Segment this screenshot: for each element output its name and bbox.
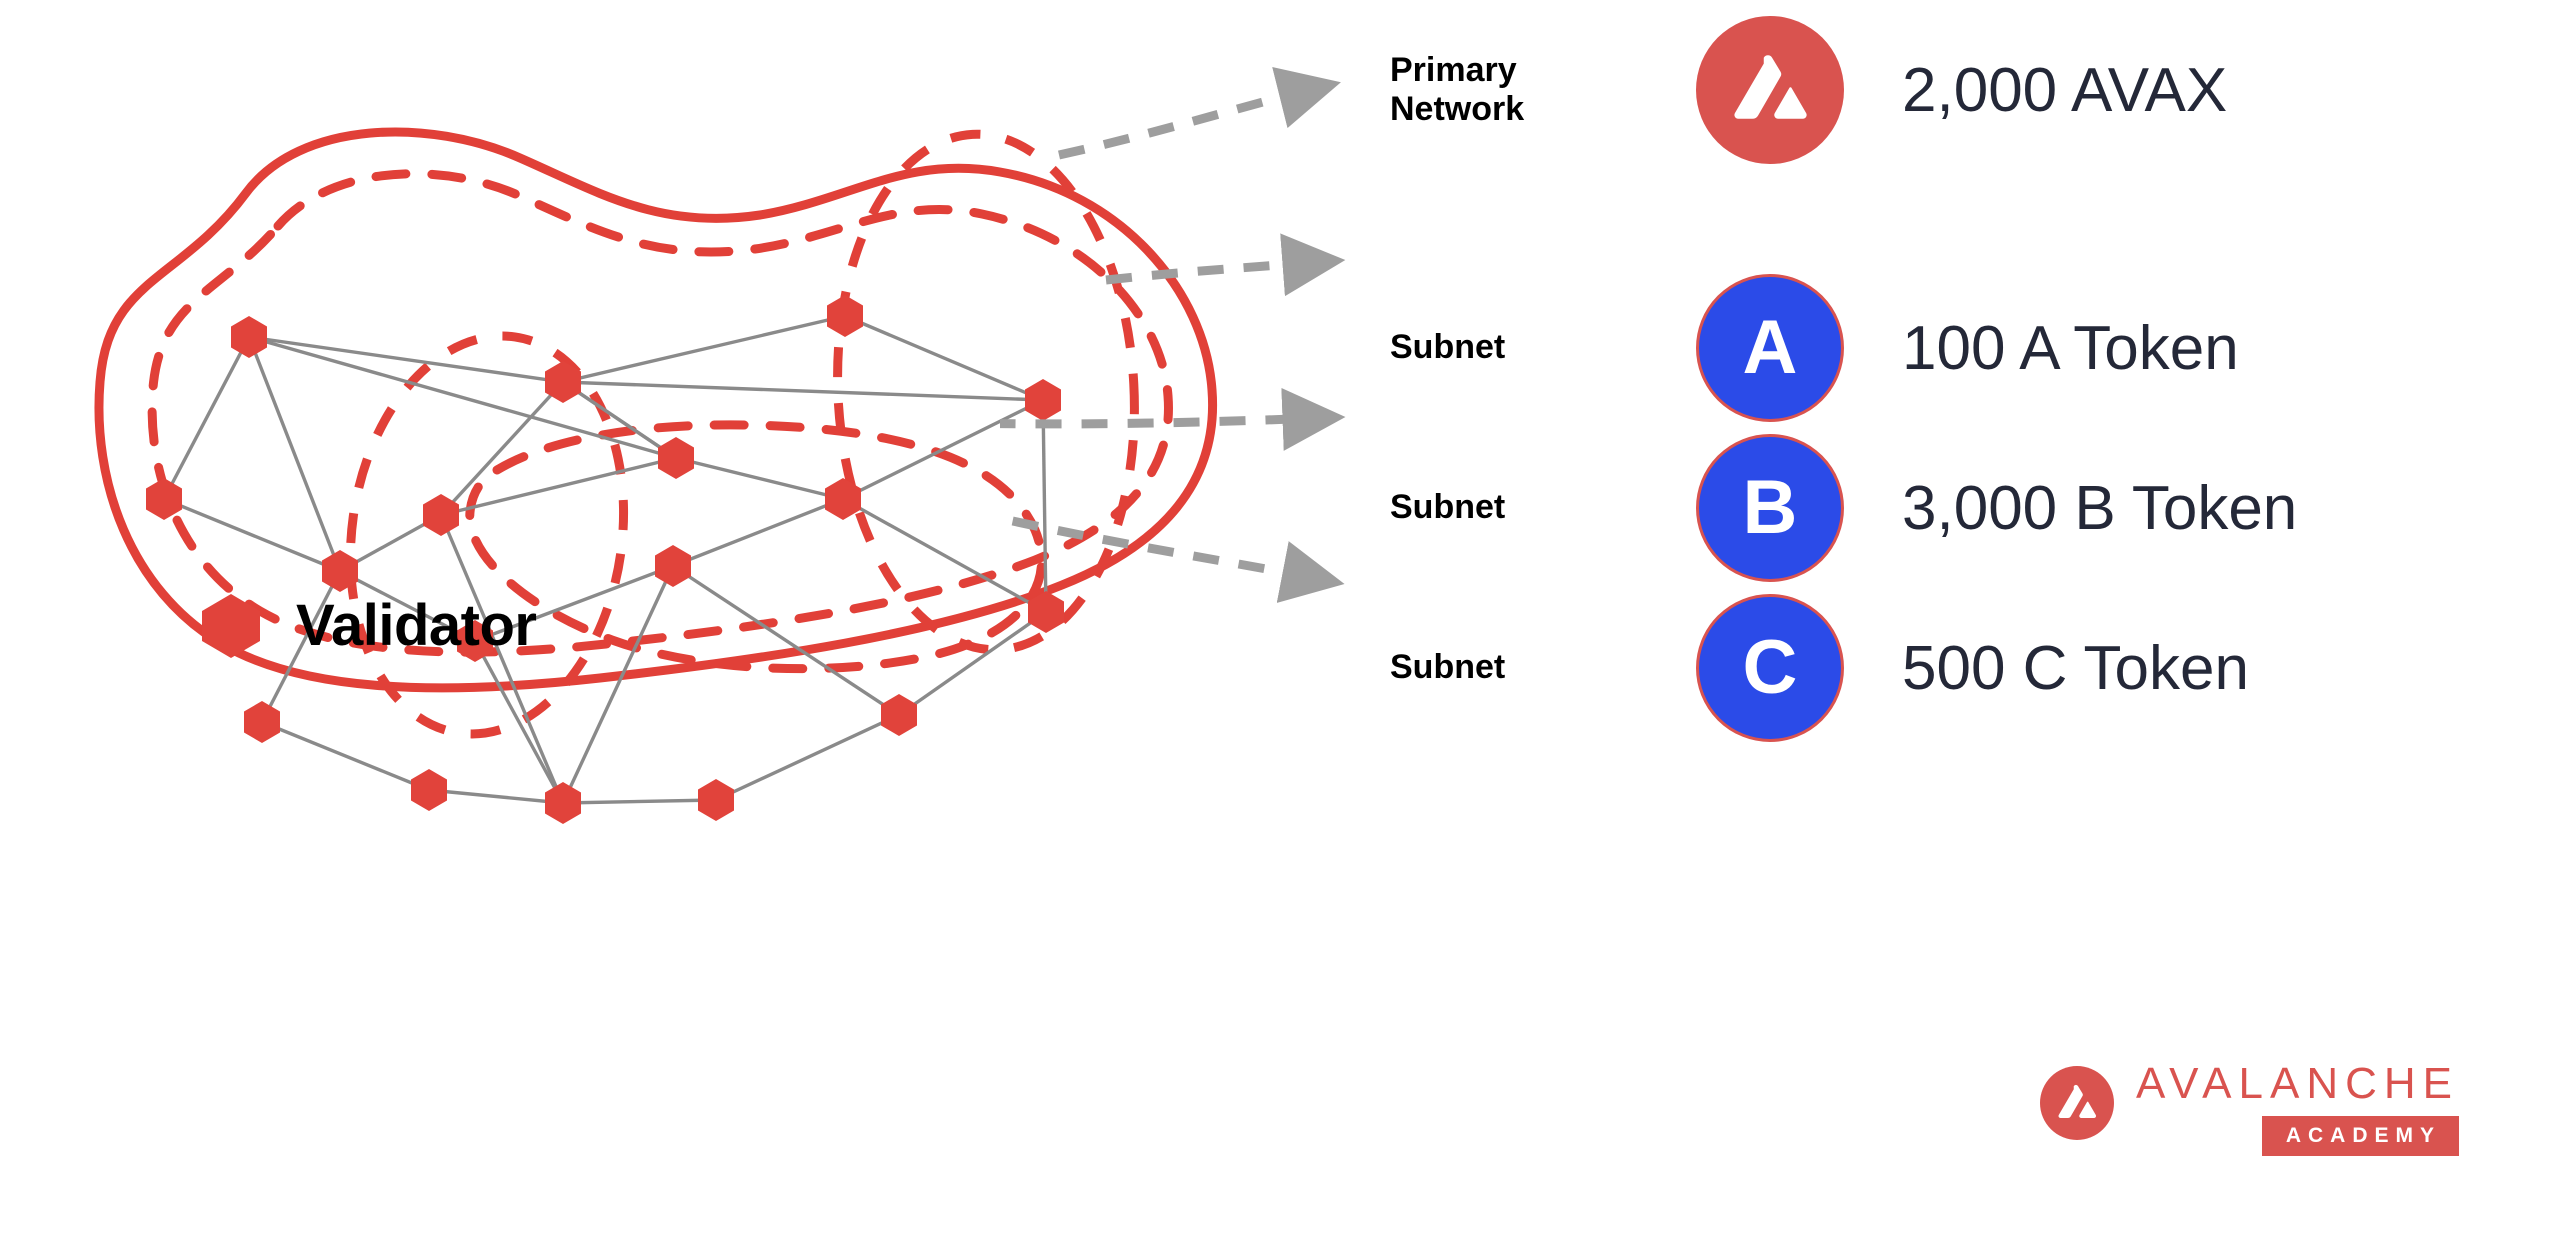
validator-node[interactable] (244, 701, 280, 743)
validator-node[interactable] (411, 769, 447, 811)
callout-arrow-primary-network (1059, 95, 1290, 155)
list-item: Primary Network 2,000 AVAX (1370, 0, 2558, 180)
validator-node[interactable] (146, 478, 182, 520)
amount-subnet-b: 3,000 B Token (1880, 473, 2558, 544)
subnet-c-boundary (470, 425, 1042, 669)
avalanche-academy-logo: AVALANCHE ACADEMY (2040, 1062, 2459, 1156)
legend-label: Validator (296, 597, 536, 655)
list-item: Subnet A 100 A Token (1370, 258, 2558, 438)
badge-cell: A (1660, 274, 1880, 422)
validator-node[interactable] (658, 437, 694, 479)
validator-node[interactable] (827, 295, 863, 337)
amount-primary-network: 2,000 AVAX (1880, 55, 2558, 126)
network-diagram-panel: Validator (0, 0, 1340, 1258)
list-item: Subnet B 3,000 B Token (1370, 418, 2558, 598)
validator-node[interactable] (231, 316, 267, 358)
avalanche-logo-icon (2040, 1066, 2114, 1140)
validator-node[interactable] (545, 782, 581, 824)
network-edges (164, 316, 1046, 803)
validator-node[interactable] (881, 694, 917, 736)
validator-node[interactable] (698, 779, 734, 821)
list-item: Subnet C 500 C Token (1370, 578, 2558, 758)
academy-sub-badge: ACADEMY (2262, 1116, 2459, 1156)
subnet-b-badge: B (1696, 434, 1844, 582)
subnet-a-badge: A (1696, 274, 1844, 422)
row-label-subnet-b: Subnet (1370, 488, 1660, 527)
legend: Validator (200, 592, 536, 660)
academy-name: AVALANCHE (2136, 1062, 2459, 1106)
subnet-c-badge: C (1696, 594, 1844, 742)
academy-sub-label: ACADEMY (2286, 1125, 2441, 1146)
hexagon-icon (200, 592, 262, 660)
validator-node[interactable] (825, 478, 861, 520)
avax-logo-icon (1696, 16, 1844, 164)
callout-arrow-subnet-b (1000, 410, 1293, 424)
callout-arrow-subnet-a (1106, 264, 1293, 280)
validator-nodes (146, 295, 1064, 824)
badge-cell (1660, 16, 1880, 164)
row-label-subnet-c: Subnet (1370, 648, 1660, 687)
academy-wordmark: AVALANCHE ACADEMY (2136, 1062, 2459, 1156)
badge-cell: B (1660, 434, 1880, 582)
diagram-canvas: Validator Primary Network (0, 0, 2558, 1258)
row-label-subnet-a: Subnet (1370, 328, 1660, 367)
row-label-primary-network: Primary Network (1370, 51, 1660, 129)
validator-node[interactable] (655, 545, 691, 587)
callout-arrow-subnet-c (1000, 500, 1293, 574)
amount-subnet-c: 500 C Token (1880, 633, 2558, 704)
token-requirements-list: Primary Network 2,000 AVAX Subnet A (1370, 0, 2558, 1020)
badge-cell: C (1660, 594, 1880, 742)
callout-arrows (1000, 0, 1420, 1000)
amount-subnet-a: 100 A Token (1880, 313, 2558, 384)
